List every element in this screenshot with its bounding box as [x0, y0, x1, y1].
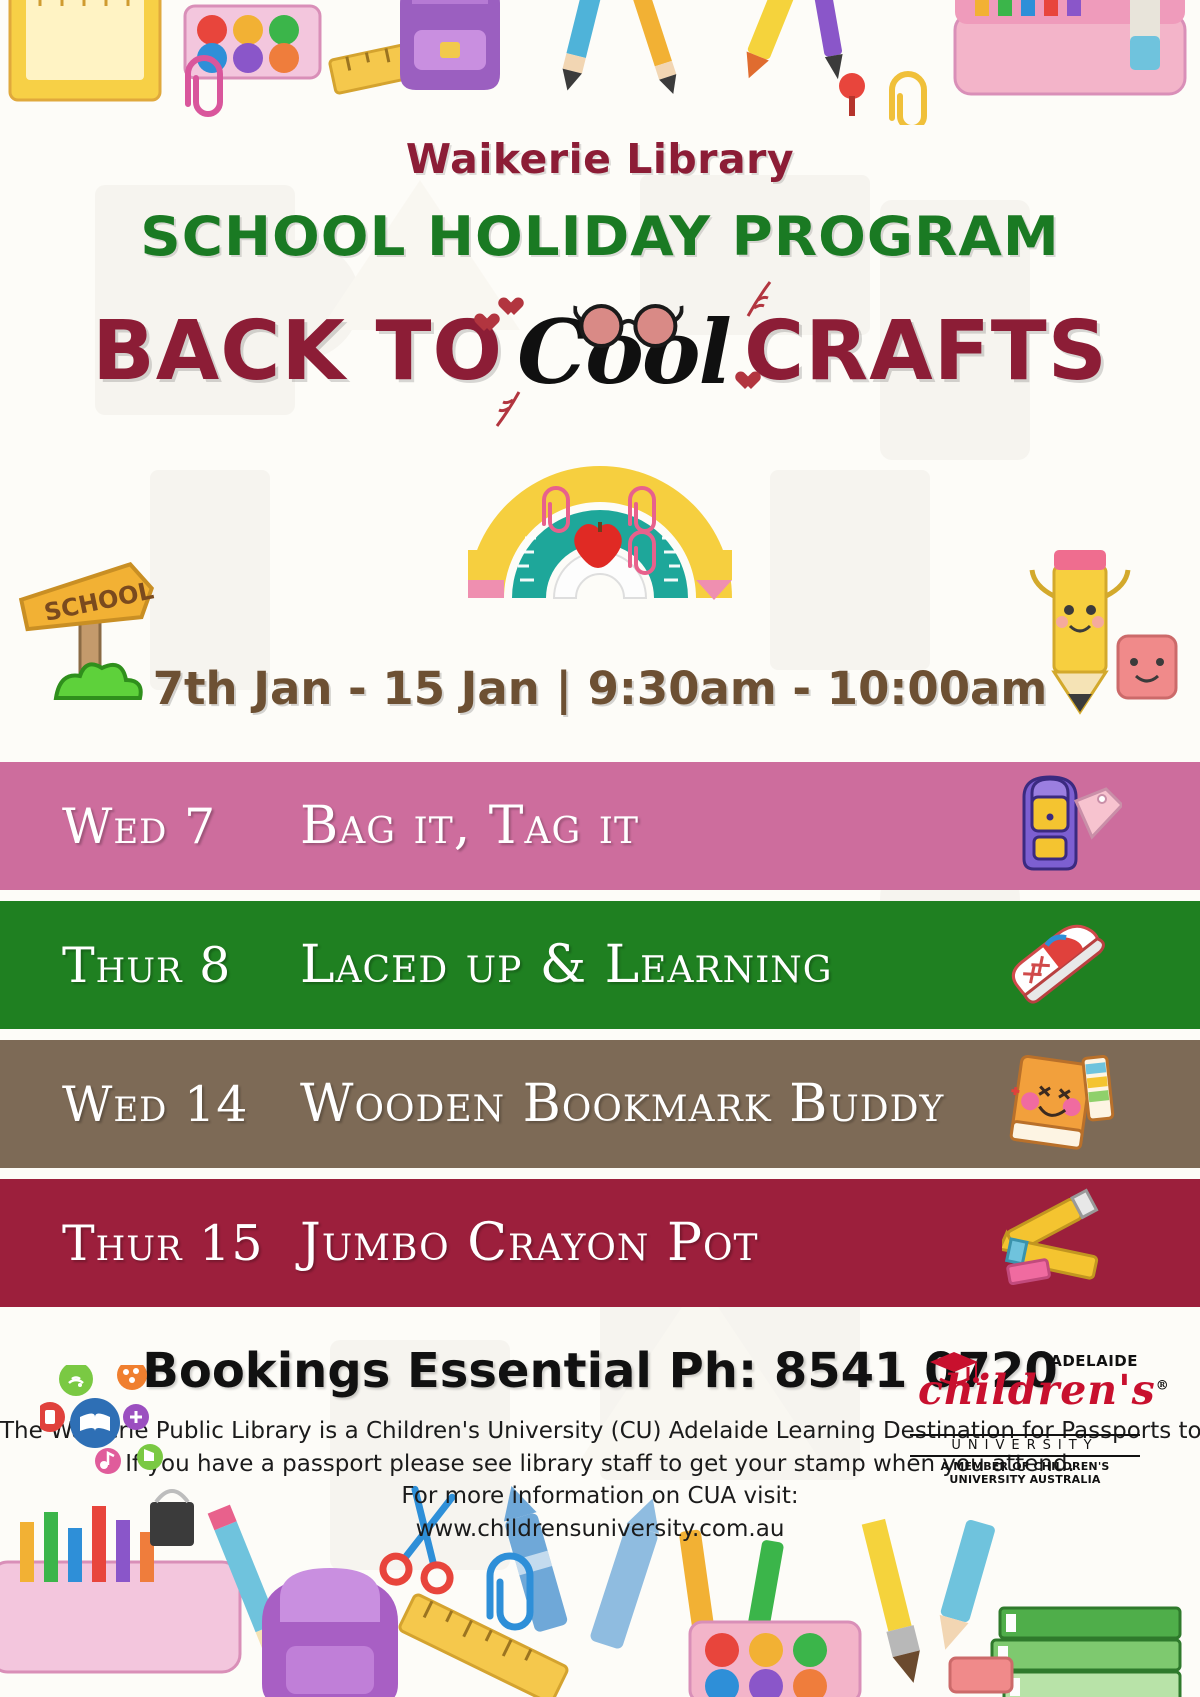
schedule-day: Wed 7	[0, 798, 300, 855]
poster-header: Waikerie Library SCHOOL HOLIDAY PROGRAM …	[0, 125, 1200, 406]
ruler-art	[329, 29, 483, 93]
paint-palette-art	[185, 6, 320, 78]
backpack-art	[262, 1568, 398, 1697]
pen-art	[809, 0, 847, 81]
glue-stick-art	[1130, 0, 1160, 70]
heart-icon	[740, 372, 762, 392]
schedule-activity: Bag it, Tag it	[300, 796, 639, 856]
title-cool-wrap: Cool	[509, 308, 738, 396]
program-heading: SCHOOL HOLIDAY PROGRAM	[0, 210, 1200, 264]
crayons-icon	[1002, 1188, 1122, 1298]
library-name: Waikerie Library	[0, 139, 1200, 180]
title-crafts: CRAFTS	[744, 311, 1108, 393]
paperclip-art	[188, 58, 220, 114]
sprig-icon	[744, 278, 774, 318]
paperclip-art	[892, 74, 924, 125]
pencil-art	[558, 0, 609, 93]
cu-website-link[interactable]: www.childrensuniversity.com.au	[0, 1513, 1200, 1546]
pen-art	[679, 1529, 719, 1661]
sprig-icon	[493, 390, 523, 430]
poster: Waikerie Library SCHOOL HOLIDAY PROGRAM …	[0, 0, 1200, 1697]
book-bookmark-icon	[1002, 1049, 1122, 1159]
education-icons-cluster	[40, 1365, 260, 1495]
childrens-university-logo: ADELAIDE children's® UNIVERSITY A MEMBER…	[910, 1352, 1140, 1486]
schedule-row-thur-8[interactable]: Thur 8 Laced up & Learning	[0, 901, 1200, 1029]
pen-art	[741, 1539, 784, 1665]
cu-university-label: UNIVERSITY	[910, 1434, 1140, 1457]
date-time-line: 7th Jan - 15 Jan | 9:30am - 10:00am	[0, 662, 1200, 715]
paint-palette-art	[690, 1622, 860, 1697]
backpack-tag-icon	[1002, 771, 1122, 881]
schedule-activity: Wooden Bookmark Buddy	[300, 1074, 944, 1134]
top-stationery-border	[0, 0, 1200, 125]
sunglasses-icon	[573, 302, 683, 348]
graduation-cap-icon	[928, 1348, 980, 1388]
schedule-day: Thur 15	[0, 1215, 300, 1272]
sneaker-icon	[1002, 910, 1122, 1020]
pushpin-art	[839, 73, 865, 116]
schedule-activity: Jumbo Crayon Pot	[300, 1213, 758, 1273]
paperclip-art	[490, 1556, 530, 1627]
schedule-row-wed-14[interactable]: Wed 14 Wooden Bookmark Buddy	[0, 1040, 1200, 1168]
cu-member-label: A MEMBER OF CHILDREN'S UNIVERSITY AUSTRA…	[910, 1460, 1140, 1486]
schedule-row-thur-15[interactable]: Thur 15 Jumbo Crayon Pot	[0, 1179, 1200, 1307]
backpack-art	[400, 0, 500, 90]
heart-icon	[479, 314, 501, 334]
schedule-day: Wed 14	[0, 1076, 300, 1133]
marker-art	[738, 0, 804, 83]
pencil-art	[629, 0, 682, 97]
schedule-row-wed-7[interactable]: Wed 7 Bag it, Tag it	[0, 762, 1200, 890]
cu-wordmark-block: children's®	[910, 1370, 1140, 1432]
book-stack-art	[992, 1608, 1180, 1697]
pencil-case-art	[955, 0, 1185, 94]
schedule-activity: Laced up & Learning	[300, 935, 833, 995]
main-title: BACK TO Cool	[0, 298, 1200, 406]
ruler-art	[398, 1593, 568, 1697]
title-back-to: BACK TO	[92, 311, 503, 393]
registered-trademark-icon: ®	[1156, 1378, 1170, 1393]
heart-icon	[503, 298, 525, 318]
schedule-list: Wed 7 Bag it, Tag it Thur 8 Laced up & L…	[0, 762, 1200, 1318]
eraser-art	[950, 1658, 1012, 1692]
notebook-art	[10, 0, 160, 100]
schedule-day: Thur 8	[0, 937, 300, 994]
